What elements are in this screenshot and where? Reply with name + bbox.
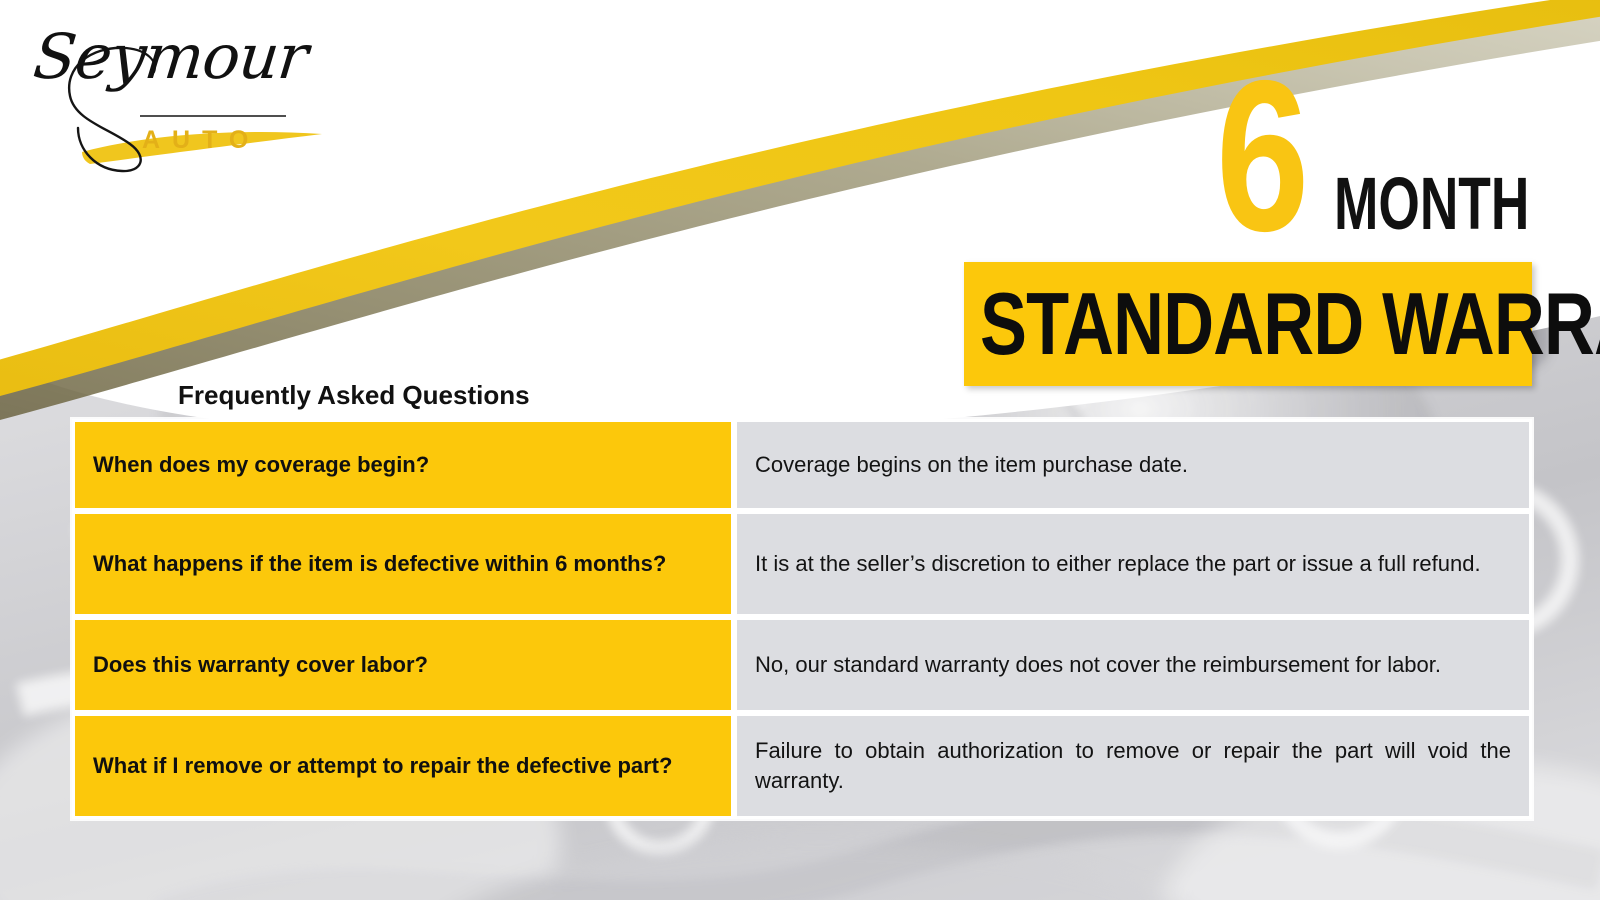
faq-answer: Coverage begins on the item purchase dat… xyxy=(734,419,1532,511)
table-row: Does this warranty cover labor? No, our … xyxy=(72,617,1532,713)
duration-number: 6 xyxy=(1216,72,1306,240)
warranty-slide: Seymour AUTO 6 MONTH STANDARD WARRANTY F… xyxy=(0,0,1600,900)
duration-unit: MONTH xyxy=(1334,167,1529,241)
faq-answer: It is at the seller’s discretion to eith… xyxy=(734,511,1532,617)
standard-warranty-banner: STANDARD WARRANTY xyxy=(964,262,1532,386)
faq-question: Does this warranty cover labor? xyxy=(72,617,734,713)
company-logo: Seymour AUTO xyxy=(30,24,340,174)
table-row: When does my coverage begin? Coverage be… xyxy=(72,419,1532,511)
table-row: What happens if the item is defective wi… xyxy=(72,511,1532,617)
logo-wordmark: Seymour xyxy=(31,26,310,88)
logo-subtitle: AUTO xyxy=(142,128,260,153)
faq-question: When does my coverage begin? xyxy=(72,419,734,511)
faq-answer: No, our standard warranty does not cover… xyxy=(734,617,1532,713)
standard-warranty-label: STANDARD WARRANTY xyxy=(980,280,1412,368)
faq-table: When does my coverage begin? Coverage be… xyxy=(72,419,1532,819)
faq-question: What if I remove or attempt to repair th… xyxy=(72,713,734,819)
faq-question: What happens if the item is defective wi… xyxy=(72,511,734,617)
faq-heading: Frequently Asked Questions xyxy=(178,381,530,410)
faq-answer: Failure to obtain authorization to remov… xyxy=(734,713,1532,819)
table-row: What if I remove or attempt to repair th… xyxy=(72,713,1532,819)
